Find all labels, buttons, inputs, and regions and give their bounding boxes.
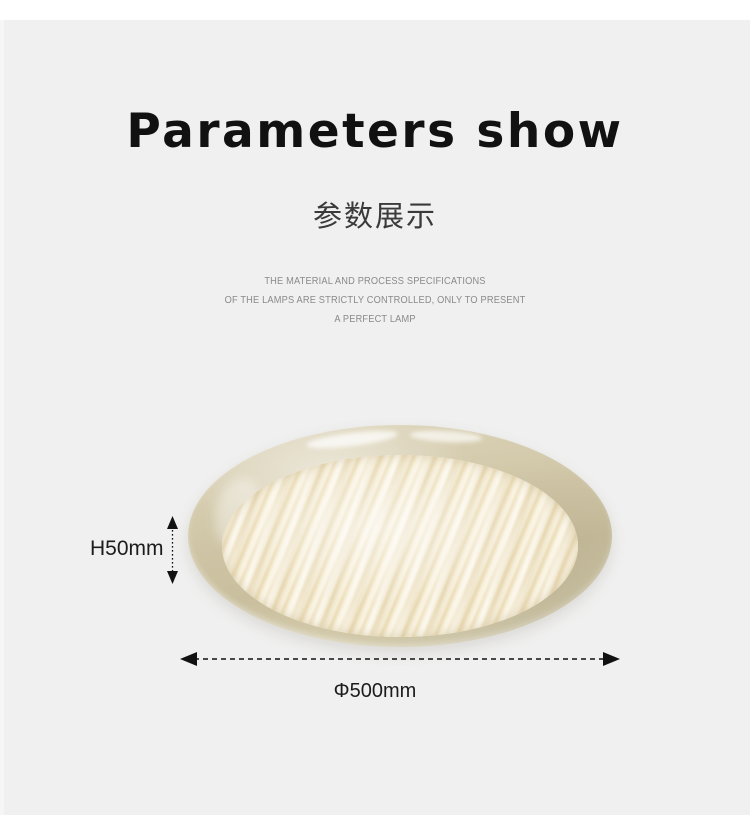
product-image-ceiling-lamp [188, 425, 612, 647]
height-dimension-arrow [165, 516, 180, 584]
description-line-1: THE MATERIAL AND PROCESS SPECIFICATIONS [45, 272, 705, 291]
page-title: Parameters show [0, 108, 750, 155]
horizontal-double-arrow-icon [180, 649, 620, 669]
diameter-dimension-label: Φ500mm [0, 680, 750, 703]
description-line-3: A PERFECT LAMP [45, 310, 705, 329]
diffuser-inner-edge [222, 455, 578, 637]
page-subtitle-chinese: 参数展示 [0, 203, 750, 232]
parameters-show-page: Parameters show 参数展示 THE MATERIAL AND PR… [0, 0, 750, 815]
top-white-band [0, 0, 750, 20]
description-block: THE MATERIAL AND PROCESS SPECIFICATIONS … [45, 272, 705, 329]
lamp-diffuser-panel [222, 455, 578, 637]
vertical-double-arrow-icon [165, 516, 180, 584]
height-dimension-label: H50mm [90, 537, 164, 561]
diameter-dimension-arrow [180, 649, 620, 669]
description-line-2: OF THE LAMPS ARE STRICTLY CONTROLLED, ON… [45, 291, 705, 310]
